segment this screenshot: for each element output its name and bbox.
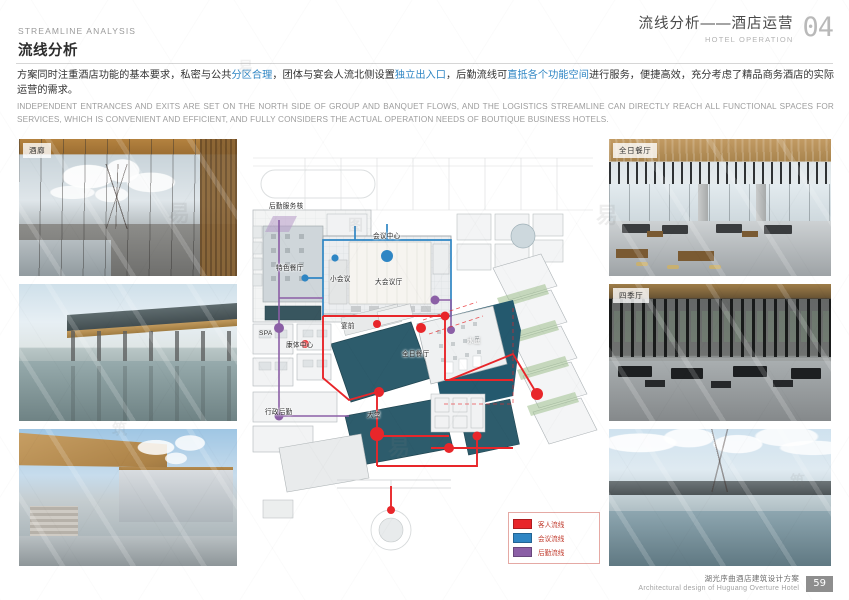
intro-cn-seg2: ，团体与宴会人流北侧设置 xyxy=(272,70,395,81)
legend-row-guest-flow: 客人流线 xyxy=(513,517,599,531)
legend-label-meeting-flow: 会议流线 xyxy=(538,533,564,543)
photo-waterside-corridor xyxy=(19,284,237,421)
footer-project-en: Architectural design of Huguang Overture… xyxy=(638,585,799,592)
photo-dining-cushion-1 xyxy=(636,262,648,266)
plan-label-admin-boh: 行政后勤 xyxy=(265,406,293,416)
page-number: 59 xyxy=(806,576,833,592)
plan-label-pre-function: 宴前 xyxy=(341,320,355,330)
plan-label-all-day-dining: 全日餐厅 xyxy=(402,348,430,358)
section-title-en: HOTEL OPERATION xyxy=(638,35,793,44)
intro-paragraph-en: INDEPENDENT ENTRANCES AND EXITS ARE SET … xyxy=(17,101,834,126)
plan-label-small-meeting: 小会议 xyxy=(330,273,351,283)
photo-dining-cushion-3 xyxy=(709,265,721,269)
photo-hall-greenery xyxy=(609,311,831,341)
photo-caption-four-seasons-hall: 四季厅 xyxy=(613,288,649,303)
photo-pool-water xyxy=(609,511,831,566)
legend-swatch-logistics-flow xyxy=(513,547,532,557)
intro-highlight-2: 独立出入口 xyxy=(395,70,446,81)
photo-dining-cushion-2 xyxy=(667,265,679,269)
header-section-text: 流线分析——酒店运营 HOTEL OPERATION xyxy=(638,12,793,44)
photo-dining-table-2 xyxy=(742,231,758,237)
photo-entry-plaza xyxy=(19,536,237,566)
photo-dining-sofa-3 xyxy=(716,224,742,233)
photo-dining-table-1 xyxy=(647,231,663,237)
legend-label-logistics-flow: 后勤流线 xyxy=(538,547,564,557)
photo-dining-low-table-2 xyxy=(678,251,714,261)
plan-boh-cluster xyxy=(431,394,485,432)
photo-dining-ceiling-fins xyxy=(609,162,831,184)
header-left-block: STREAMLINE ANALYSIS 流线分析 xyxy=(18,26,136,60)
photo-lounge: 酒廊 xyxy=(19,139,237,276)
intro-highlight-1: 分区合理 xyxy=(231,70,272,81)
legend-label-guest-flow: 客人流线 xyxy=(538,519,564,529)
photo-hall-sofa-2 xyxy=(671,368,703,379)
photo-hall-sofa-3 xyxy=(733,366,767,377)
intro-text-block: 方案同时注重酒店功能的基本要求，私密与公共分区合理，团体与宴会人流北侧设置独立出… xyxy=(17,68,834,126)
presentation-board: STREAMLINE ANALYSIS 流线分析 流线分析——酒店运营 HOTE… xyxy=(0,0,849,600)
legend-swatch-meeting-flow xyxy=(513,533,532,543)
photo-hall-table-1 xyxy=(645,380,665,387)
header-right-block: 流线分析——酒店运营 HOTEL OPERATION 04 xyxy=(638,12,833,44)
photo-hall-table-2 xyxy=(711,381,731,388)
photo-entry-canopy xyxy=(19,429,237,566)
photo-entry-blossom xyxy=(126,432,226,476)
section-title-cn: 流线分析——酒店运营 xyxy=(638,12,793,33)
plan-label-service-core: 后勤服务核 xyxy=(269,200,303,210)
photo-hall-sofa-1 xyxy=(618,366,652,377)
photo-hall-table-3 xyxy=(773,380,793,387)
footer-project-text: 湖光序曲酒店建筑设计方案 Architectural design of Hug… xyxy=(638,573,799,592)
photo-lounge-wood-screen xyxy=(200,139,237,276)
legend-row-logistics-flow: 后勤流线 xyxy=(513,545,599,559)
intro-cn-seg1: 方案同时注重酒店功能的基本要求，私密与公共 xyxy=(17,70,231,81)
photo-dining-low-table-1 xyxy=(616,249,648,258)
intro-paragraph-cn: 方案同时注重酒店功能的基本要求，私密与公共分区合理，团体与宴会人流北侧设置独立出… xyxy=(17,68,834,98)
plan-feature-tree xyxy=(511,224,535,248)
flow-legend: 客人流线 会议流线 后勤流线 xyxy=(508,512,600,564)
photo-dining-glass-wall xyxy=(609,184,831,221)
plan-label-water-court: 水庭 xyxy=(467,335,481,345)
plan-label-conference-center: 会议中心 xyxy=(373,230,401,240)
photo-entry-building xyxy=(119,470,232,522)
plan-label-specialty-restaurant: 特色餐厅 xyxy=(276,262,304,272)
site-plan-diagram: 后勤服务核 特色餐厅 会议中心 小会议 大会议厅 SPA 康体中心 宴前 全日餐… xyxy=(245,148,601,568)
chapter-number: 04 xyxy=(802,14,833,41)
photo-dining-pillar-1 xyxy=(698,184,708,221)
plan-label-spa: SPA xyxy=(259,330,273,337)
photo-corridor-columns xyxy=(71,331,237,361)
site-plan-drawing xyxy=(245,148,601,568)
board-header: STREAMLINE ANALYSIS 流线分析 流线分析——酒店运营 HOTE… xyxy=(0,0,849,62)
legend-row-meeting-flow: 会议流线 xyxy=(513,531,599,545)
plan-label-lobby: 大堂 xyxy=(367,409,381,419)
intro-highlight-3: 直抵各个功能空间 xyxy=(507,70,589,81)
photo-caption-lounge: 酒廊 xyxy=(23,143,51,158)
photo-dining-sofa-4 xyxy=(764,225,792,234)
header-eyebrow: STREAMLINE ANALYSIS xyxy=(18,26,136,36)
photo-corridor-reflection xyxy=(71,366,237,421)
footer-project-cn: 湖光序曲酒店建筑设计方案 xyxy=(638,573,799,584)
board-footer: 湖光序曲酒店建筑设计方案 Architectural design of Hug… xyxy=(638,573,833,592)
photo-hall-sofa-4 xyxy=(791,368,821,379)
photo-all-day-dining: 全日餐厅 xyxy=(609,139,831,276)
plan-label-wellness-center: 康体中心 xyxy=(286,339,314,349)
intro-cn-seg3: ，后勤流线可 xyxy=(446,70,507,81)
plan-label-grand-ballroom: 大会议厅 xyxy=(375,276,403,286)
photo-dining-pillar-2 xyxy=(756,184,766,221)
plan-entry-roundabout xyxy=(379,518,403,542)
legend-swatch-guest-flow xyxy=(513,519,532,529)
page-title: 流线分析 xyxy=(18,39,136,60)
photo-caption-all-day-dining: 全日餐厅 xyxy=(613,143,657,158)
photo-blossom-pool xyxy=(609,429,831,566)
photo-four-seasons-hall: 四季厅 xyxy=(609,284,831,421)
photo-dining-sofa-2 xyxy=(662,225,688,234)
photo-pool-branches xyxy=(609,429,831,492)
header-divider xyxy=(16,63,833,64)
